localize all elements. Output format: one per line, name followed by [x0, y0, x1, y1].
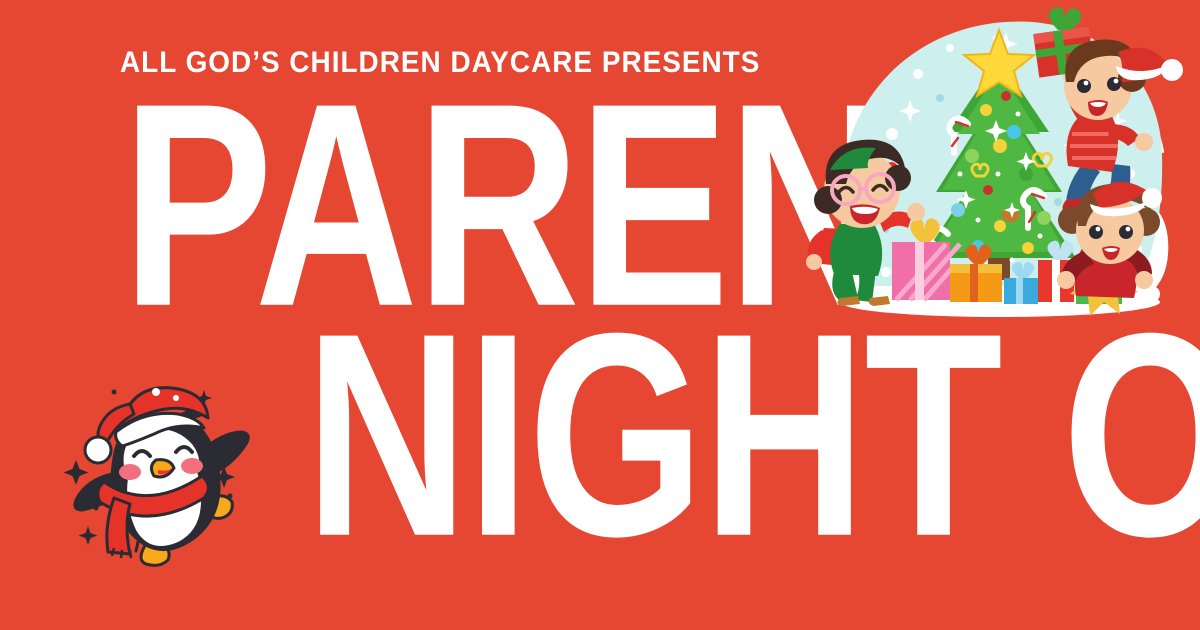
santa-hat: [1116, 48, 1183, 82]
headline-line-2: NIGHT OUT: [305, 322, 1200, 548]
santa-penguin-illustration: [58, 378, 273, 583]
penguin-hat-pompom: [85, 437, 111, 463]
penguin-cheek-right: [181, 458, 203, 474]
christmas-tree-scene: [800, 14, 1200, 334]
poster-canvas: ALL GOD’S CHILDREN DAYCARE PRESENTS PARE…: [0, 0, 1200, 630]
penguin-cheek-left: [119, 464, 141, 480]
